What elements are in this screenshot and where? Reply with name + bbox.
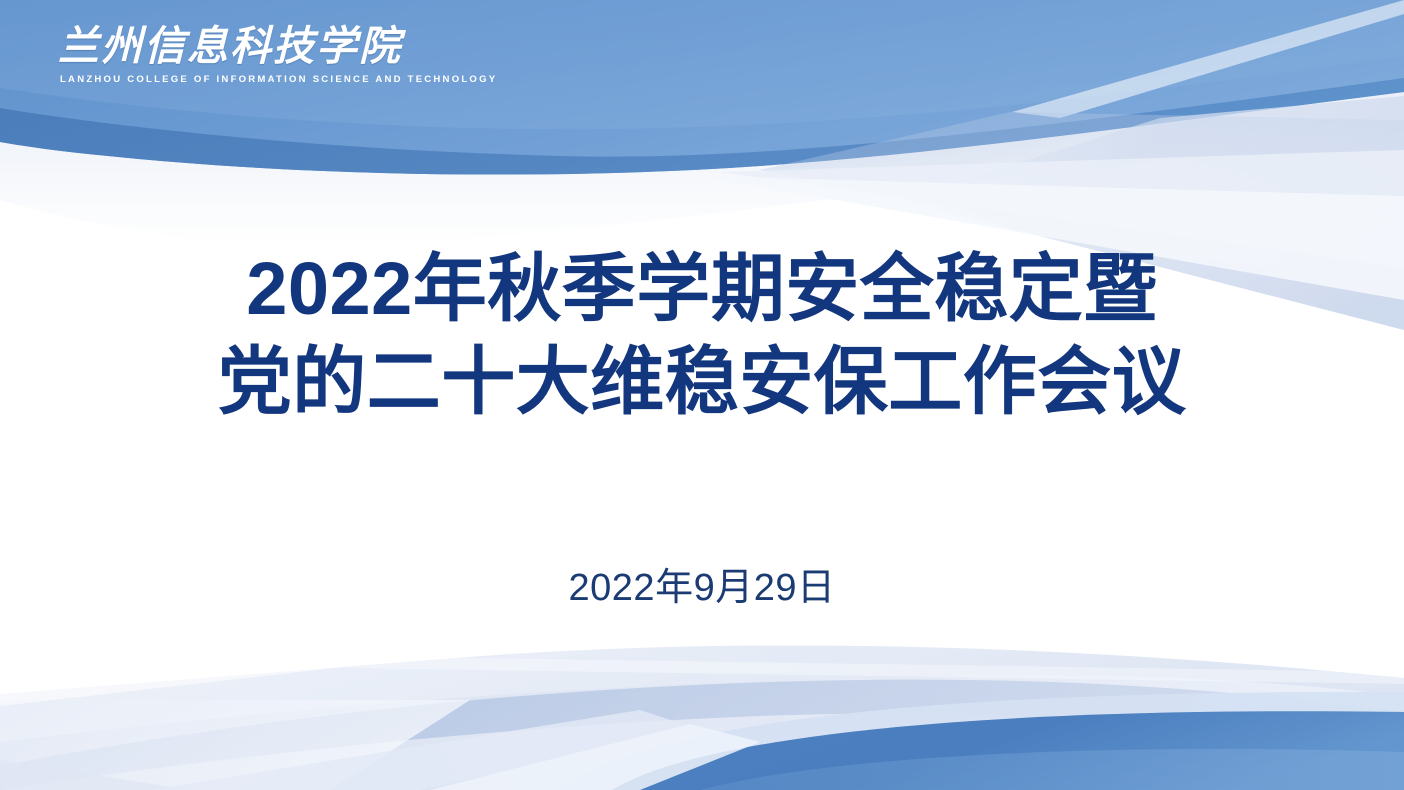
bottom-blue-wave xyxy=(612,711,1404,790)
bottom-left-facet-2 xyxy=(0,760,190,790)
presentation-title-slide: 兰州信息科技学院 LANZHOU COLLEGE OF INFORMATION … xyxy=(0,0,1404,790)
banner-highlight-streak xyxy=(1012,0,1404,118)
slide-title: 2022年秋季学期安全稳定暨 党的二十大维稳安保工作会议 xyxy=(0,242,1404,428)
title-line-1: 2022年秋季学期安全稳定暨 xyxy=(0,242,1404,335)
bottom-glint-1 xyxy=(0,654,370,706)
bottom-left-facet-3 xyxy=(150,710,700,790)
slide-subtitle-date: 2022年9月29日 xyxy=(0,566,1404,612)
bottom-steel-ribbon xyxy=(0,680,1404,790)
bottom-glint-2 xyxy=(340,656,1404,684)
university-logo: 兰州信息科技学院 LANZHOU COLLEGE OF INFORMATION … xyxy=(58,24,398,85)
bottom-pale-sweep-1 xyxy=(0,645,1404,790)
top-banner-dark-band xyxy=(0,78,1404,175)
bottom-blue-wave-crest xyxy=(700,749,1404,790)
bottom-light-arc xyxy=(560,692,1404,790)
bottom-pale-sweep-2 xyxy=(0,676,1404,790)
bottom-center-facet xyxy=(430,724,760,790)
logo-name-cn: 兰州信息科技学院 xyxy=(58,24,398,68)
title-line-2: 党的二十大维稳安保工作会议 xyxy=(0,335,1404,428)
bottom-left-facet-1 xyxy=(0,700,470,790)
logo-name-en: LANZHOU COLLEGE OF INFORMATION SCIENCE A… xyxy=(58,74,396,85)
